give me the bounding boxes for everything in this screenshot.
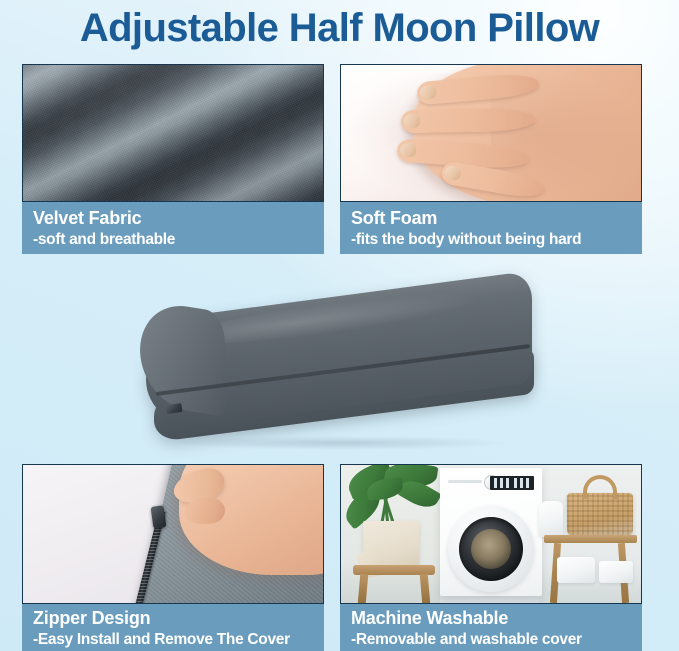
feature-panel-machine-washable: Machine Washable -Removable and washable… [340,464,642,651]
washer-door-glass [459,517,523,581]
soft-foam-photo [340,64,642,202]
folded-towel [539,501,563,537]
feature-panel-velvet-fabric: Velvet Fabric -soft and breathable [22,64,324,254]
fingernail [420,85,437,100]
canvas-tote-bag [363,521,419,569]
caption-title: Machine Washable [351,607,642,630]
wicker-basket [567,493,633,537]
feature-panel-zipper-design: Zipper Design -Easy Install and Remove T… [22,464,324,651]
washer-display [490,476,534,490]
caption-title: Zipper Design [33,607,324,630]
fingernail [404,114,420,128]
thumb [184,497,226,526]
washer-control-panel [446,473,536,495]
caption-zipper-design: Zipper Design -Easy Install and Remove T… [22,604,324,651]
page-title: Adjustable Half Moon Pillow [0,2,679,54]
caption-subtitle: -Removable and washable cover [351,630,642,650]
caption-title: Velvet Fabric [33,207,324,230]
machine-washable-photo [340,464,642,604]
zipper-pull-tab [151,506,167,530]
velvet-fabric-photo [22,64,324,202]
washing-machine [440,468,542,596]
caption-subtitle: -Easy Install and Remove The Cover [33,630,324,650]
washer-detergent-drawer [448,480,482,483]
washer-drum [471,529,511,569]
caption-machine-washable: Machine Washable -Removable and washable… [340,604,642,651]
zipper-design-photo [22,464,324,604]
caption-soft-foam: Soft Foam -fits the body without being h… [340,202,642,254]
washer-door [448,506,534,592]
wooden-shelf [544,535,637,543]
pillow-drop-shadow [176,436,506,450]
product-image-half-moon-pillow [140,296,540,458]
caption-subtitle: -soft and breathable [33,230,324,250]
caption-velvet-fabric: Velvet Fabric -soft and breathable [22,202,324,254]
caption-title: Soft Foam [351,207,642,230]
fingernail [444,165,462,182]
product-infographic: Adjustable Half Moon Pillow Velvet Fabri… [0,0,679,651]
fingernail [400,143,417,158]
caption-subtitle: -fits the body without being hard [351,230,642,250]
velvet-sheen [23,65,323,201]
folded-towel [599,561,633,583]
feature-panel-soft-foam: Soft Foam -fits the body without being h… [340,64,642,254]
folded-towel [557,557,595,583]
